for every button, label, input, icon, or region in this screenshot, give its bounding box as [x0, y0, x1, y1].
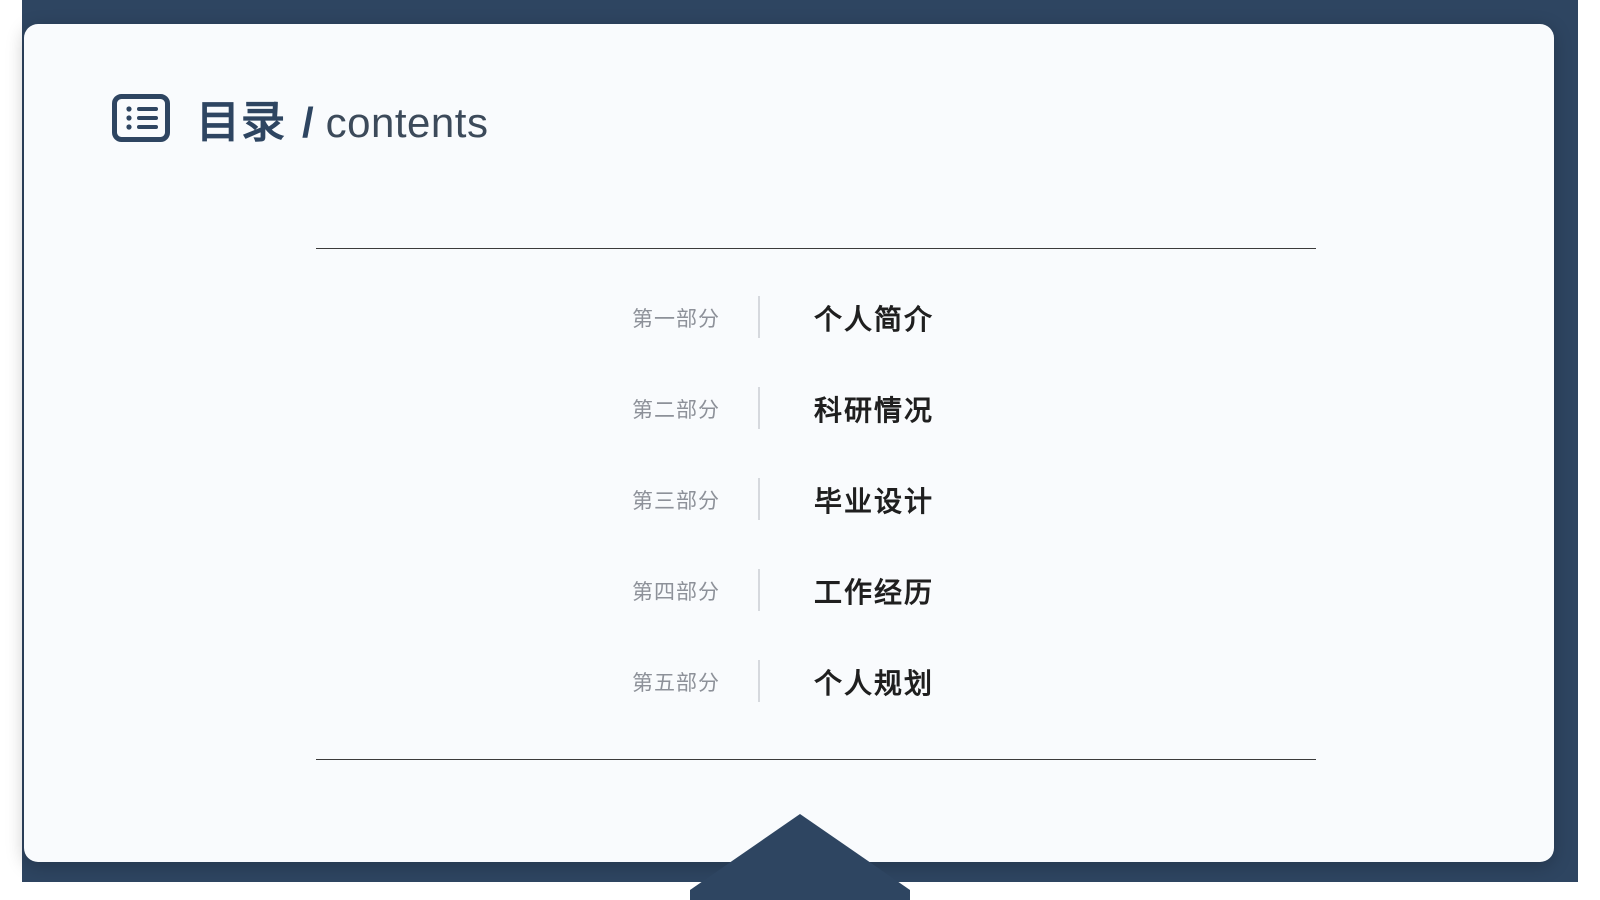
slide-root: 目录 / contents 第一部分 个人简介 第二部分 科研情况 第三部分 毕… — [0, 0, 1600, 900]
list-item-separator — [758, 387, 760, 429]
list-item-part: 第四部分 — [316, 576, 720, 606]
list-item-title: 工作经历 — [814, 571, 934, 611]
list-item-part: 第三部分 — [316, 485, 720, 515]
list-item[interactable]: 第三部分 毕业设计 — [316, 454, 1316, 545]
contents-list: 第一部分 个人简介 第二部分 科研情况 第三部分 毕业设计 第四部分 工作经历 … — [316, 272, 1316, 727]
left-edge-strip — [0, 0, 22, 900]
list-item-title: 个人规划 — [814, 662, 934, 702]
list-item-separator — [758, 569, 760, 611]
list-item[interactable]: 第五部分 个人规划 — [316, 636, 1316, 727]
list-item-part: 第一部分 — [316, 303, 720, 333]
page-title-cn: 目录 — [196, 86, 286, 150]
right-edge-strip — [1578, 0, 1600, 900]
content-card: 目录 / contents 第一部分 个人简介 第二部分 科研情况 第三部分 毕… — [24, 24, 1554, 862]
list-item-part: 第二部分 — [316, 394, 720, 424]
list-item[interactable]: 第二部分 科研情况 — [316, 363, 1316, 454]
list-item-separator — [758, 660, 760, 702]
list-item[interactable]: 第四部分 工作经历 — [316, 545, 1316, 636]
list-item-title: 个人简介 — [814, 298, 934, 338]
chevron-decoration — [690, 814, 910, 900]
divider-top — [316, 248, 1316, 249]
list-item-separator — [758, 478, 760, 520]
list-item[interactable]: 第一部分 个人简介 — [316, 272, 1316, 363]
page-title: 目录 / contents — [196, 86, 488, 150]
divider-bottom — [316, 759, 1316, 760]
slide-header: 目录 / contents — [112, 86, 488, 150]
list-box-icon — [112, 93, 170, 143]
list-item-title: 科研情况 — [814, 389, 934, 429]
page-title-en: contents — [326, 99, 489, 147]
list-item-title: 毕业设计 — [814, 480, 934, 520]
list-item-separator — [758, 296, 760, 338]
page-title-separator: / — [302, 99, 314, 147]
list-item-part: 第五部分 — [316, 667, 720, 697]
